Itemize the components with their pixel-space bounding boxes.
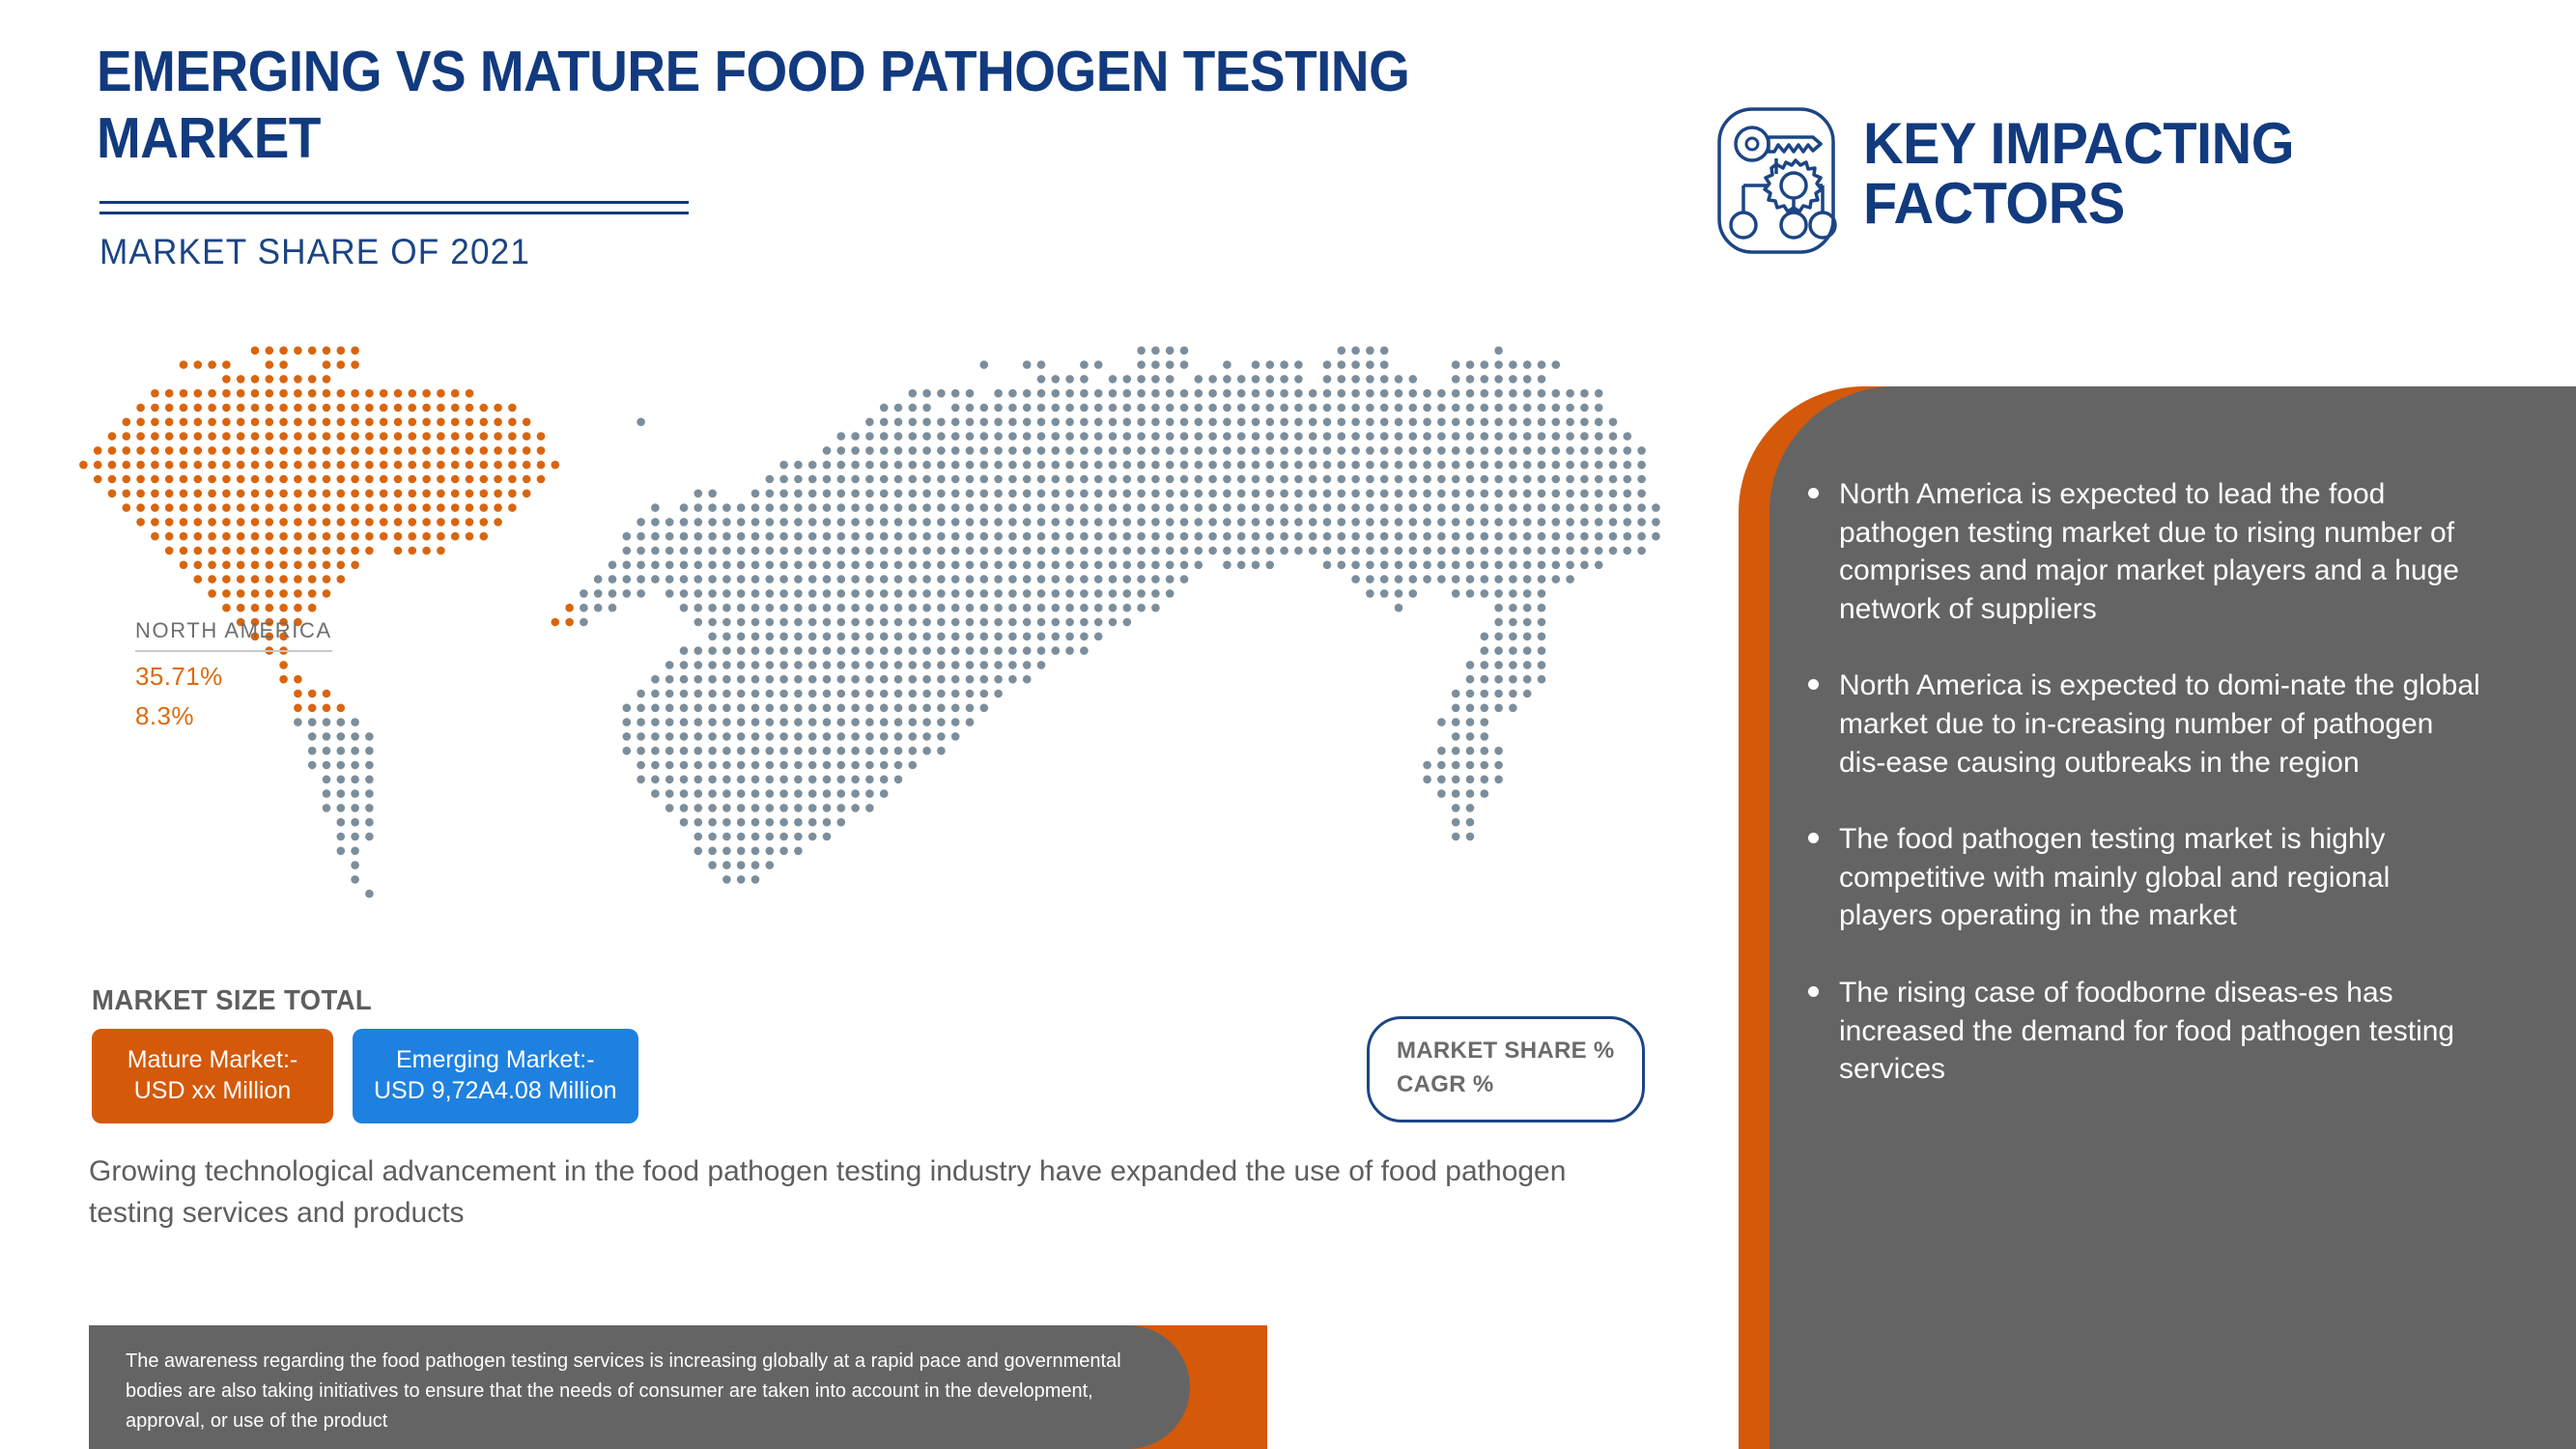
list-item: North America is expected to lead the fo… — [1804, 475, 2480, 628]
market-size-buttons: Mature Market:- USD xx Million Emerging … — [92, 1029, 638, 1123]
key-impacting-factors-header: KEY IMPACTING FACTORS — [1714, 104, 2312, 257]
mature-market-button[interactable]: Mature Market:- USD xx Million — [92, 1029, 333, 1123]
region-callout: NORTH AMERICA 35.71% 8.3% — [135, 618, 454, 731]
region-market-share-value: 35.71% — [135, 662, 454, 692]
emerging-market-button[interactable]: Emerging Market:- USD 9,72A4.08 Million — [353, 1029, 638, 1123]
page-title: EMERGING VS MATURE FOOD PATHOGEN TESTING… — [97, 39, 1444, 172]
key-gear-network-icon — [1714, 104, 1838, 257]
key-factors-panel: North America is expected to lead the fo… — [1739, 386, 2576, 1449]
list-item: The rising case of foodborne diseas-es h… — [1804, 974, 2480, 1089]
map-legend-pill: MARKET SHARE % CAGR % — [1367, 1016, 1645, 1122]
list-item: The food pathogen testing market is high… — [1804, 820, 2480, 935]
list-item: North America is expected to domi-nate t… — [1804, 667, 2480, 781]
title-double-rule — [99, 201, 689, 214]
bottom-note-banner: The awareness regarding the food pathoge… — [89, 1325, 1209, 1449]
region-name-label: NORTH AMERICA — [135, 618, 332, 652]
market-size-total-label: MARKET SIZE TOTAL — [92, 985, 372, 1017]
legend-market-share-label: MARKET SHARE % — [1397, 1035, 1615, 1068]
key-impacting-factors-title: KEY IMPACTING FACTORS — [1863, 104, 2294, 234]
bottom-note-text: The awareness regarding the food pathoge… — [126, 1347, 1159, 1436]
legend-cagr-label: CAGR % — [1397, 1068, 1615, 1102]
region-cagr-value: 8.3% — [135, 701, 454, 731]
key-factors-list: North America is expected to lead the fo… — [1804, 475, 2480, 1127]
body-paragraph: Growing technological advancement in the… — [89, 1151, 1596, 1234]
page-subtitle: MARKET SHARE OF 2021 — [99, 232, 530, 272]
